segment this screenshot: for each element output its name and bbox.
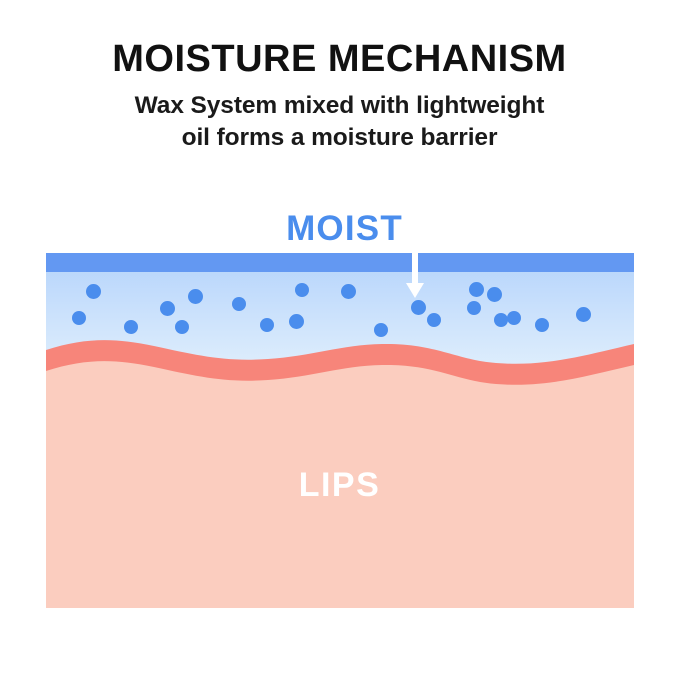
- subtitle-line-2: oil forms a moisture barrier: [0, 122, 679, 154]
- moisture-mechanism-diagram: [46, 253, 634, 608]
- moist-label: MOIST: [5, 209, 679, 249]
- lips-label: LIPS: [0, 466, 679, 505]
- subtitle-line-1: Wax System mixed with lightweight: [0, 90, 679, 122]
- moist-top-bar-layer: [46, 253, 634, 272]
- page-title: MOISTURE MECHANISM: [0, 40, 679, 80]
- poster-canvas: MOISTURE MECHANISM Wax System mixed with…: [0, 0, 679, 679]
- page-subtitle: Wax System mixed with lightweight oil fo…: [0, 90, 679, 155]
- diagram-svg: [46, 253, 634, 608]
